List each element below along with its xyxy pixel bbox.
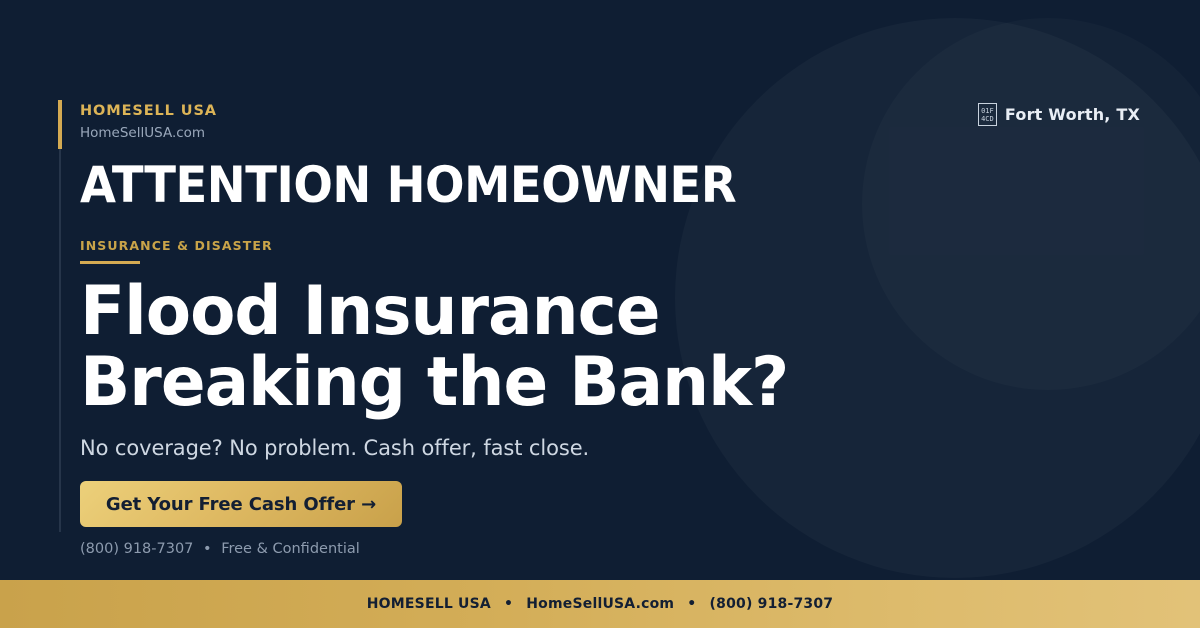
main-headline: Flood Insurance Breaking the Bank? (80, 276, 788, 418)
headline-line-2: Breaking the Bank? (80, 347, 788, 418)
brand-block: HOMESELL USA HomeSellUSA.com (80, 103, 217, 143)
brand-website: HomeSellUSA.com (80, 124, 217, 142)
pushpin-icon-codepoint-hi: 01F (981, 107, 994, 115)
category-eyebrow: INSURANCE & DISASTER (80, 238, 273, 253)
location-label: Fort Worth, TX (1005, 105, 1140, 124)
contact-phone: (800) 918-7307 (80, 541, 193, 557)
contact-line: (800) 918-7307 • Free & Confidential (80, 541, 360, 557)
ad-banner: HOMESELL USA HomeSellUSA.com 01F 4CD For… (0, 0, 1200, 628)
eyebrow-underline (80, 261, 140, 264)
left-rail-accent (58, 100, 62, 149)
contact-separator: • (198, 541, 217, 557)
left-rail-line (59, 100, 61, 532)
brand-name: HOMESELL USA (80, 103, 217, 120)
footer-brand: HOMESELL USA (367, 596, 491, 612)
footer-text: HOMESELL USA • HomeSellUSA.com • (800) 9… (367, 596, 833, 612)
subheadline: No coverage? No problem. Cash offer, fas… (80, 436, 589, 460)
background-circle-small (862, 18, 1200, 390)
headline-line-1: Flood Insurance (80, 276, 788, 347)
attention-headline: ATTENTION HOMEOWNER (80, 160, 736, 210)
footer-bar: HOMESELL USA • HomeSellUSA.com • (800) 9… (0, 580, 1200, 628)
footer-separator-2: • (679, 596, 704, 612)
contact-note: Free & Confidential (221, 541, 360, 557)
pushpin-icon: 01F 4CD (978, 103, 997, 126)
footer-website: HomeSellUSA.com (526, 596, 674, 612)
pushpin-icon-codepoint-lo: 4CD (981, 115, 994, 123)
footer-phone: (800) 918-7307 (710, 596, 834, 612)
cta-button[interactable]: Get Your Free Cash Offer → (80, 481, 402, 527)
footer-separator-1: • (496, 596, 521, 612)
location-badge: 01F 4CD Fort Worth, TX (978, 103, 1140, 126)
